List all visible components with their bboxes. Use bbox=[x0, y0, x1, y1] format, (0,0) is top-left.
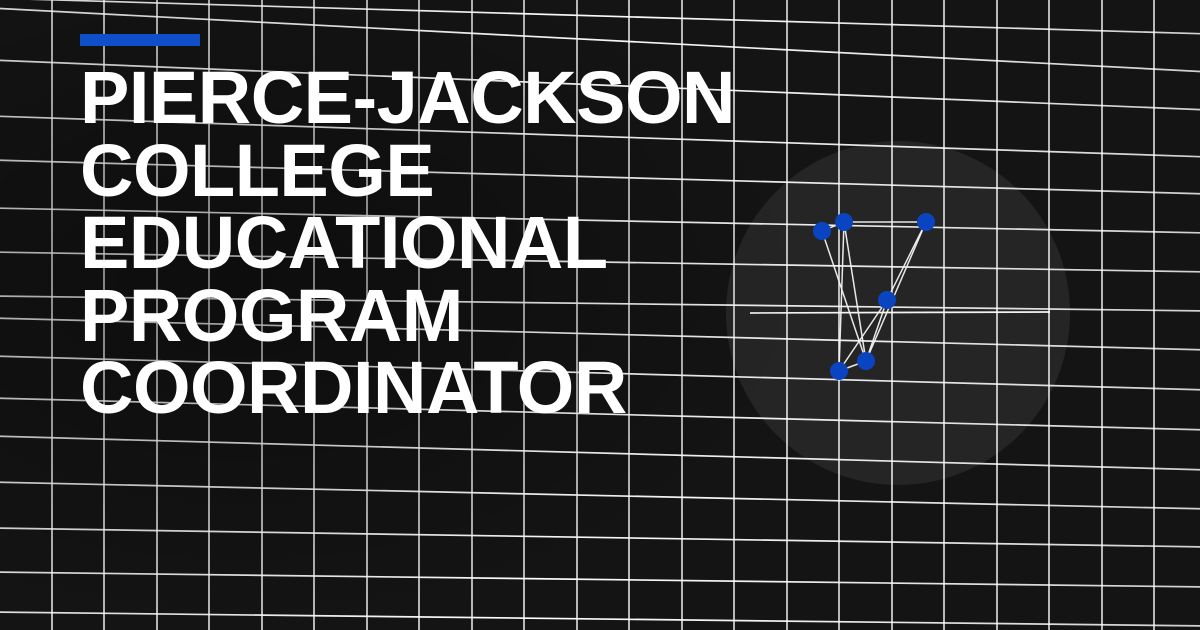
page-title: PIERCE-JACKSON COLLEGE EDUCATIONAL PROGR… bbox=[80, 62, 840, 425]
title-line-1: PIERCE-JACKSON bbox=[80, 62, 840, 135]
accent-bar bbox=[80, 34, 200, 46]
title-line-3: EDUCATIONAL bbox=[80, 207, 840, 280]
poster-content: PIERCE-JACKSON COLLEGE EDUCATIONAL PROGR… bbox=[0, 0, 1200, 630]
title-line-4: PROGRAM bbox=[80, 280, 840, 353]
title-line-2: COLLEGE bbox=[80, 135, 840, 208]
poster-canvas: PIERCE-JACKSON COLLEGE EDUCATIONAL PROGR… bbox=[0, 0, 1200, 630]
title-line-5: COORDINATOR bbox=[80, 352, 840, 425]
